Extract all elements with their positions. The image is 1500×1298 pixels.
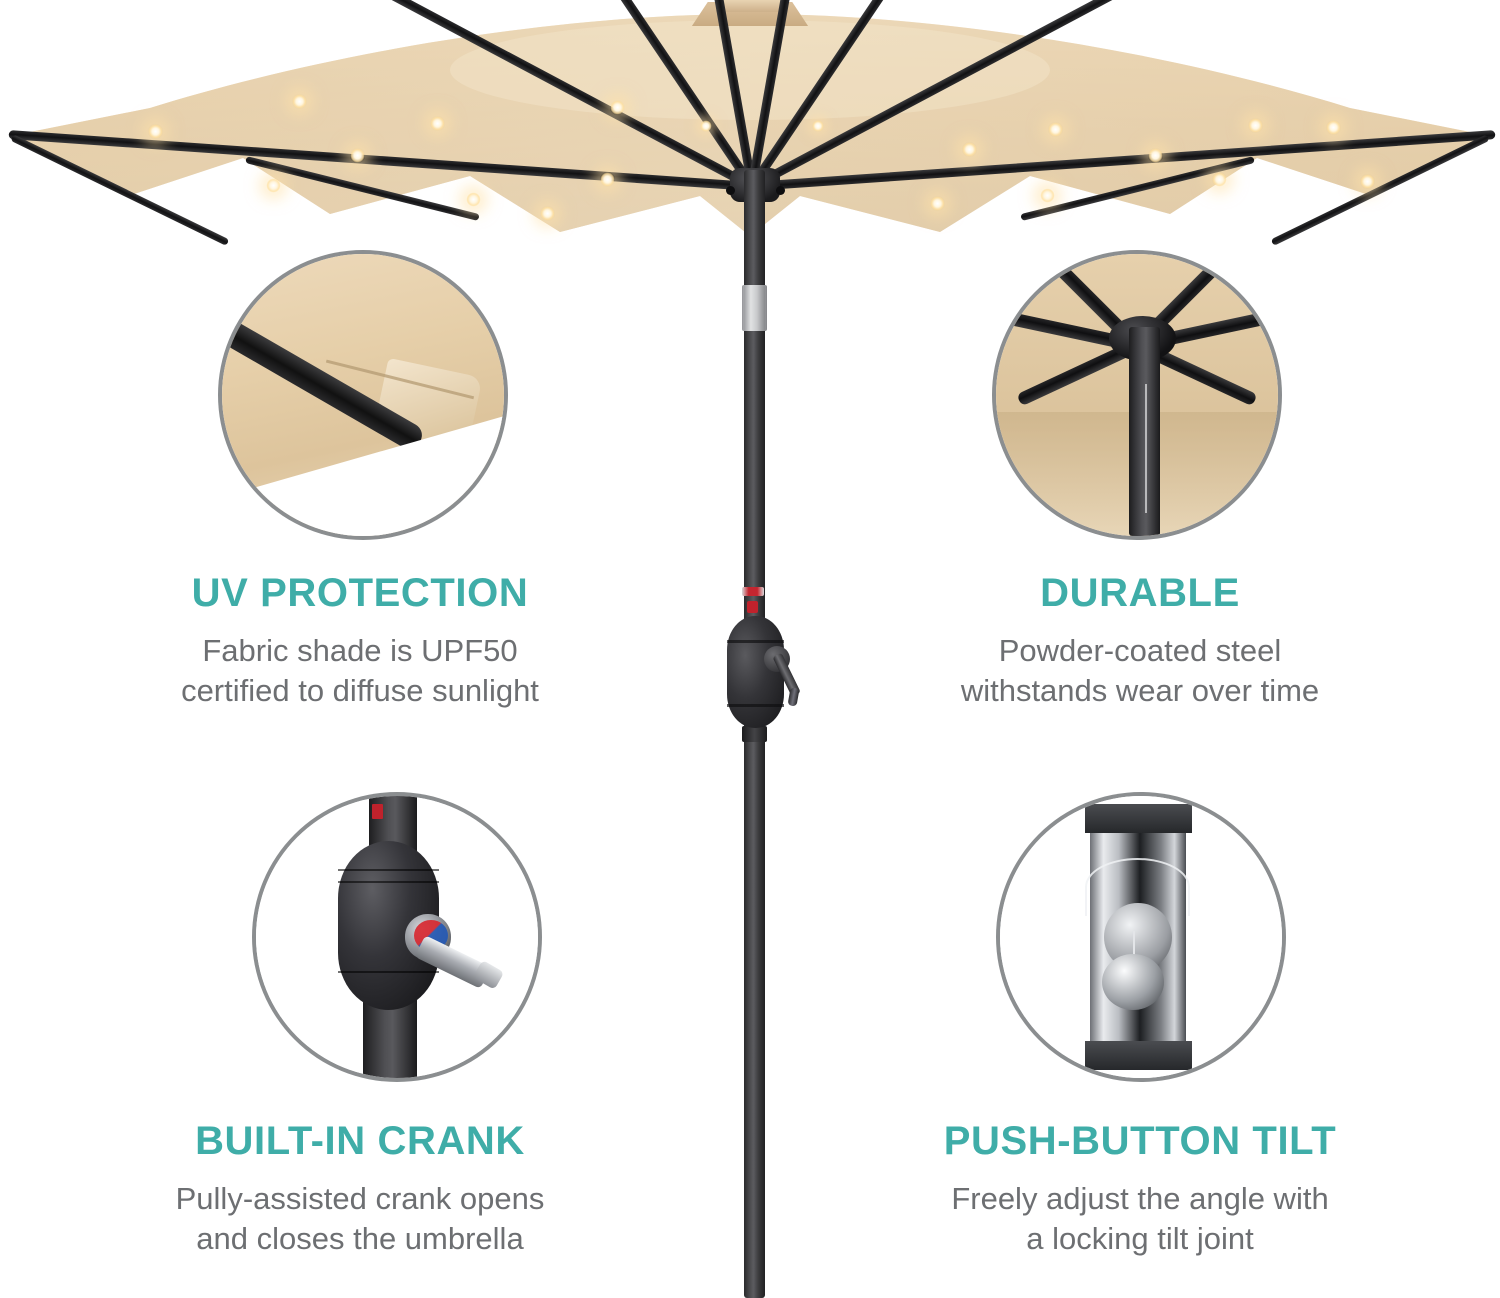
led-light: [700, 120, 712, 132]
feature-description-line2: certified to diffuse sunlight: [181, 673, 539, 708]
feature-description-line2: and closes the umbrella: [196, 1221, 523, 1256]
led-light: [600, 172, 615, 187]
led-light: [1148, 148, 1163, 163]
led-light: [266, 178, 281, 193]
led-light: [1248, 118, 1263, 133]
feature-description: Freely adjust the angle with a locking t…: [820, 1179, 1460, 1258]
led-light: [1360, 174, 1375, 189]
crank-housing: [727, 616, 784, 728]
tilt-joint-cap-top: [1085, 804, 1192, 832]
tilt-button-marker: [372, 804, 383, 818]
led-light: [962, 142, 977, 157]
feature-description-line1: Powder-coated steel: [999, 633, 1282, 668]
detail-circle-push-button-tilt: [1000, 796, 1282, 1078]
feature-heading: BUILT-IN CRANK: [40, 1120, 680, 1163]
led-light: [1326, 120, 1341, 135]
led-light: [610, 100, 625, 115]
detail-circle-uv-protection: [222, 254, 504, 536]
detail-circle-durable: [996, 254, 1278, 536]
tilt-button: [747, 601, 758, 613]
feature-description-line2: a locking tilt joint: [1026, 1221, 1253, 1256]
pole-tilt-joint: [742, 285, 767, 331]
feature-push-button-tilt: PUSH-BUTTON TILT Freely adjust the angle…: [820, 1120, 1460, 1259]
feature-uv-protection: UV PROTECTION Fabric shade is UPF50 cert…: [40, 572, 680, 711]
feature-description-line1: Pully-assisted crank opens: [176, 1181, 545, 1216]
crank-ridge: [338, 881, 440, 883]
crank-grip: [788, 687, 800, 706]
led-light: [1212, 172, 1227, 187]
led-light: [430, 116, 445, 131]
tilt-joint-ball: [1102, 954, 1164, 1010]
feature-heading: DURABLE: [820, 572, 1460, 615]
led-light: [466, 192, 481, 207]
led-light: [1040, 188, 1055, 203]
hub-pole: [1129, 327, 1160, 536]
feature-description-line1: Fabric shade is UPF50: [202, 633, 517, 668]
led-light: [148, 124, 163, 139]
tilt-joint-cap-bottom: [1085, 1041, 1192, 1069]
hub-bolt: [776, 186, 785, 195]
crank-housing-ring: [727, 704, 784, 707]
infographic-canvas: UV PROTECTION Fabric shade is UPF50 cert…: [0, 0, 1500, 1298]
feature-description: Pully-assisted crank opens and closes th…: [40, 1179, 680, 1258]
pole-seam: [742, 726, 767, 742]
crank-ridge: [338, 971, 440, 973]
crank-ridge: [338, 869, 440, 871]
led-light: [930, 196, 945, 211]
feature-description-line1: Freely adjust the angle with: [951, 1181, 1328, 1216]
feature-description-line2: withstands wear over time: [961, 673, 1319, 708]
feature-built-in-crank: BUILT-IN CRANK Pully-assisted crank open…: [40, 1120, 680, 1259]
feature-heading: UV PROTECTION: [40, 572, 680, 615]
feature-description: Powder-coated steel withstands wear over…: [820, 631, 1460, 710]
tilt-label-strip: [742, 587, 764, 596]
crank-pole-lower: [363, 999, 417, 1078]
led-light: [292, 94, 307, 109]
feature-description: Fabric shade is UPF50 certified to diffu…: [40, 631, 680, 710]
canopy-vent-cap: [716, 0, 784, 12]
led-light: [350, 148, 365, 163]
led-light: [540, 206, 555, 221]
crank-housing-ring: [727, 640, 784, 643]
led-light: [1048, 122, 1063, 137]
led-light: [812, 120, 824, 132]
hub-wire: [1145, 384, 1147, 514]
feature-durable: DURABLE Powder-coated steel withstands w…: [820, 572, 1460, 711]
feature-heading: PUSH-BUTTON TILT: [820, 1120, 1460, 1163]
hub-bolt: [726, 186, 735, 195]
detail-circle-built-in-crank: [256, 796, 538, 1078]
